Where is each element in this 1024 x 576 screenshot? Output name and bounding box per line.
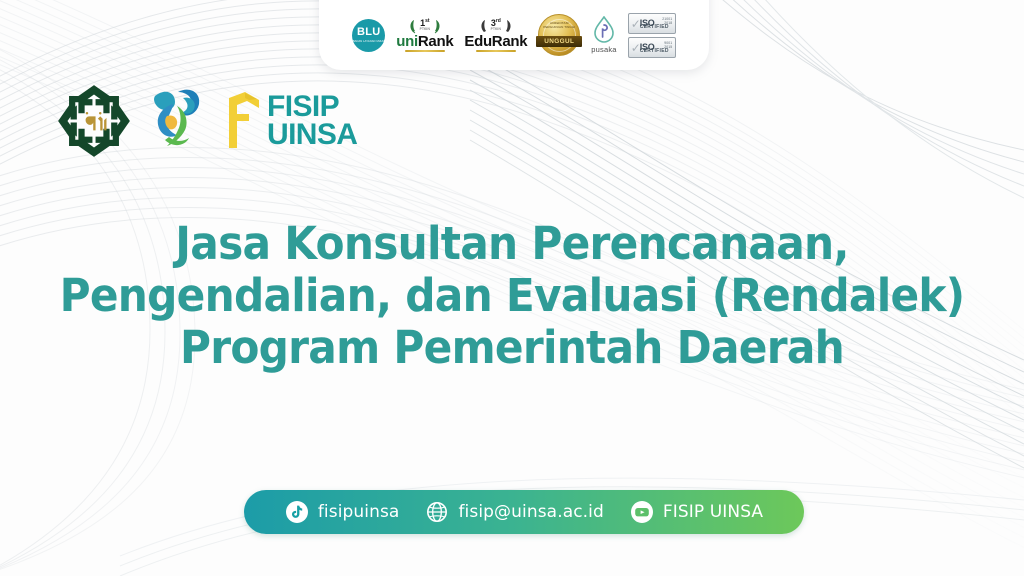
contact-email[interactable]: fisip@uinsa.ac.id — [425, 500, 603, 524]
headline-line-2: Pengendalian, dan Evaluasi (Rendalek) — [31, 270, 994, 322]
pusaka-wordmark: pusaka — [591, 45, 616, 54]
accreditation-badge-card: BLU BADAN LAYANAN UMUM 1st PT — [319, 0, 709, 70]
contact-youtube[interactable]: FISIP UINSA — [630, 500, 763, 524]
iso-check-icon: ✓ — [631, 18, 640, 31]
blu-circle: BLU BADAN LAYANAN UMUM — [352, 19, 385, 52]
iso-check-icon: ✓ — [631, 42, 640, 55]
unirank-wordmark: uniRank — [396, 34, 453, 49]
edurank-wordmark: EduRank — [464, 34, 527, 49]
iso-badge-group: ✓ ISO 210012018 CERTIFIED ✓ ISO 90012015… — [628, 9, 676, 61]
headline-line-1: Jasa Konsultan Perencanaan, — [31, 218, 994, 270]
edurank-rank-sub: PTKIN — [479, 28, 513, 31]
contact-bar: fisipuinsa fisip@uinsa.ac.id FISIP UINSA — [244, 490, 804, 534]
fisip-wordmark: FISIP UINSA — [267, 93, 357, 149]
iso-9001-badge: ✓ ISO 90012015 CERTIFIED — [628, 37, 676, 58]
uinsa-logo — [55, 82, 133, 160]
iso-9001-cert: CERTIFIED — [640, 48, 669, 54]
blu-logo: BLU BADAN LAYANAN UMUM — [352, 9, 385, 61]
edurank-laurel-icon: 3rd PTKIN — [479, 18, 513, 35]
pusaka-logo: pusaka — [591, 9, 616, 61]
unggul-seal-toptext: AKREDITASIPERGURUAN TINGGI — [539, 22, 579, 30]
badge-row: BLU BADAN LAYANAN UMUM 1st PT — [352, 9, 675, 61]
edurank-logo: 3rd PTKIN EduRank — [464, 9, 527, 61]
fisip-line-2: UINSA — [267, 121, 357, 149]
headline-line-3: Program Pemerintah Daerah — [31, 322, 994, 374]
unggul-seal-disc: AKREDITASIPERGURUAN TINGGI UNGGUL — [538, 14, 580, 56]
youtube-icon — [630, 500, 654, 524]
tiktok-icon — [285, 500, 309, 524]
fisip-uinsa-logo: FISIP UINSA — [223, 90, 357, 152]
unirank-rule — [405, 50, 445, 52]
unirank-rank-sub: PTKIN — [408, 28, 442, 31]
edurank-rule — [476, 50, 516, 52]
globe-icon — [425, 500, 449, 524]
fisip-line-1: FISIP — [267, 93, 357, 121]
contact-tiktok[interactable]: fisipuinsa — [285, 500, 400, 524]
fisip-leaf-logo — [147, 82, 209, 160]
contact-email-label: fisip@uinsa.ac.id — [458, 502, 603, 522]
fisip-bracket-icon — [223, 90, 263, 152]
iso-21001-cert: CERTIFIED — [640, 24, 669, 30]
blu-subtext: BADAN LAYANAN UMUM — [353, 40, 385, 43]
unggul-ribbon: UNGGUL — [536, 36, 582, 47]
unirank-laurel-icon: 1st PTKIN — [408, 18, 442, 35]
contact-youtube-label: FISIP UINSA — [663, 502, 763, 522]
iso-21001-badge: ✓ ISO 210012018 CERTIFIED — [628, 13, 676, 34]
page-title: Jasa Konsultan Perencanaan, Pengendalian… — [31, 218, 994, 375]
unirank-logo: 1st PTKIN uniRank — [396, 9, 453, 61]
unggul-seal: AKREDITASIPERGURUAN TINGGI UNGGUL — [538, 9, 580, 61]
contact-tiktok-label: fisipuinsa — [318, 502, 400, 522]
slide-canvas: BLU BADAN LAYANAN UMUM 1st PT — [0, 0, 1024, 576]
pusaka-droplet-icon — [593, 16, 615, 44]
institution-logo-row: FISIP UINSA — [55, 82, 357, 160]
blu-wordmark: BLU — [357, 27, 381, 38]
